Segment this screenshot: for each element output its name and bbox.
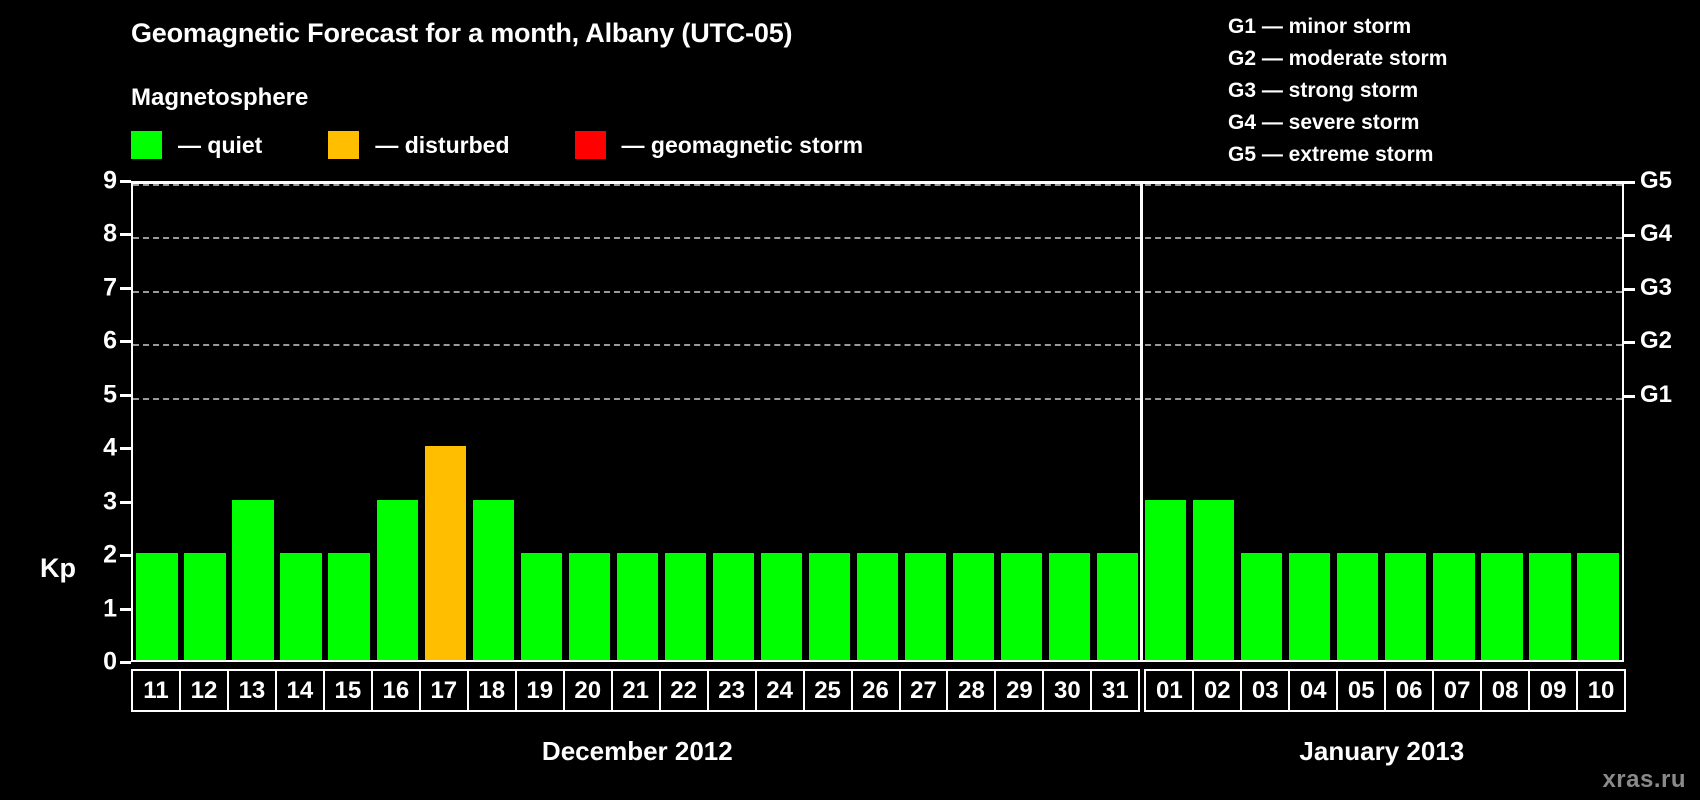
day-label-27[interactable]: 27 <box>899 669 949 712</box>
day-label-12[interactable]: 12 <box>179 669 229 712</box>
bar-cell[interactable] <box>229 184 277 660</box>
legend-swatch-disturbed <box>328 131 359 159</box>
kp-tick-mark-6 <box>120 340 131 343</box>
day-label-04[interactable]: 04 <box>1288 669 1338 712</box>
day-label-05[interactable]: 05 <box>1336 669 1386 712</box>
kp-tick-label-4: 4 <box>103 434 117 463</box>
page-title: Geomagnetic Forecast for a month, Albany… <box>131 18 792 49</box>
plot-inner <box>133 184 1622 660</box>
bar-cell[interactable] <box>373 184 421 660</box>
kp-tick-mark-8 <box>120 233 131 236</box>
bar-cell[interactable] <box>1238 184 1286 660</box>
bar-cell[interactable] <box>1142 184 1190 660</box>
kp-tick-label-2: 2 <box>103 541 117 570</box>
bar-day-01[interactable] <box>1145 500 1186 660</box>
geomagnetic-forecast-chart: Geomagnetic Forecast for a month, Albany… <box>0 0 1700 800</box>
day-label-17[interactable]: 17 <box>419 669 469 712</box>
g-tick-mark-g5 <box>1624 181 1635 184</box>
day-label-25[interactable]: 25 <box>803 669 853 712</box>
bar-cell[interactable] <box>1094 184 1142 660</box>
bar-cell[interactable] <box>1286 184 1334 660</box>
legend-swatch-quiet <box>131 131 162 159</box>
kp-tick-mark-2 <box>120 554 131 557</box>
bar-day-17[interactable] <box>425 446 466 660</box>
bar-day-09[interactable] <box>1529 553 1570 660</box>
bar-day-14[interactable] <box>280 553 321 660</box>
day-label-15[interactable]: 15 <box>323 669 373 712</box>
kp-tick-mark-7 <box>120 287 131 290</box>
bar-cell[interactable] <box>277 184 325 660</box>
g-tick-label-g4: G4 <box>1640 220 1672 248</box>
day-label-strip: 1112131415161718192021222324252627282930… <box>131 669 1624 712</box>
storm-key-line-g4: G4 — severe storm <box>1228 107 1447 139</box>
day-label-23[interactable]: 23 <box>707 669 757 712</box>
legend-label-disturbed: — disturbed <box>375 132 509 159</box>
month-label-december: December 2012 <box>542 736 733 767</box>
kp-tick-label-7: 7 <box>103 273 117 302</box>
day-label-11[interactable]: 11 <box>131 669 181 712</box>
bar-day-08[interactable] <box>1481 553 1522 660</box>
bar-cell[interactable] <box>998 184 1046 660</box>
day-label-31[interactable]: 31 <box>1090 669 1140 712</box>
storm-key-line-g3: G3 — strong storm <box>1228 75 1447 107</box>
bar-cell[interactable] <box>1190 184 1238 660</box>
kp-tick-label-6: 6 <box>103 327 117 356</box>
bar-day-24[interactable] <box>761 553 802 660</box>
legend-item-quiet: — quiet <box>131 131 262 159</box>
kp-tick-mark-0 <box>120 661 131 664</box>
bar-day-20[interactable] <box>569 553 610 660</box>
bar-cell[interactable] <box>181 184 229 660</box>
bar-day-22[interactable] <box>665 553 706 660</box>
g-tick-label-g1: G1 <box>1640 381 1672 409</box>
day-label-09[interactable]: 09 <box>1528 669 1578 712</box>
bar-cell[interactable] <box>661 184 709 660</box>
month-label-january: January 2013 <box>1299 736 1464 767</box>
bar-cell[interactable] <box>565 184 613 660</box>
day-label-19[interactable]: 19 <box>515 669 565 712</box>
kp-tick-mark-3 <box>120 501 131 504</box>
storm-scale-key: G1 — minor storm G2 — moderate storm G3 … <box>1228 11 1447 171</box>
g-tick-label-g5: G5 <box>1640 167 1672 195</box>
bar-day-31[interactable] <box>1097 553 1138 660</box>
bar-cell[interactable] <box>517 184 565 660</box>
kp-tick-label-8: 8 <box>103 220 117 249</box>
kp-tick-mark-4 <box>120 447 131 450</box>
day-label-16[interactable]: 16 <box>371 669 421 712</box>
storm-key-line-g1: G1 — minor storm <box>1228 11 1447 43</box>
kp-tick-label-1: 1 <box>103 594 117 623</box>
bar-cell[interactable] <box>950 184 998 660</box>
bar-day-13[interactable] <box>232 500 273 660</box>
bar-cell[interactable] <box>133 184 181 660</box>
magnetosphere-legend: — quiet — disturbed — geomagnetic storm <box>131 130 863 160</box>
kp-tick-mark-1 <box>120 608 131 611</box>
day-label-22[interactable]: 22 <box>659 669 709 712</box>
bar-day-06[interactable] <box>1385 553 1426 660</box>
day-label-02[interactable]: 02 <box>1192 669 1242 712</box>
g-tick-mark-g2 <box>1624 341 1635 344</box>
bar-cell[interactable] <box>1382 184 1430 660</box>
bar-cell[interactable] <box>469 184 517 660</box>
day-label-03[interactable]: 03 <box>1240 669 1290 712</box>
bar-day-30[interactable] <box>1049 553 1090 660</box>
bar-cell[interactable] <box>1574 184 1622 660</box>
day-label-06[interactable]: 06 <box>1384 669 1434 712</box>
kp-tick-label-5: 5 <box>103 380 117 409</box>
g-tick-label-g2: G2 <box>1640 327 1672 355</box>
day-label-13[interactable]: 13 <box>227 669 277 712</box>
bar-day-27[interactable] <box>905 553 946 660</box>
bar-day-26[interactable] <box>857 553 898 660</box>
bar-day-16[interactable] <box>377 500 418 660</box>
bar-cell[interactable] <box>1334 184 1382 660</box>
bar-day-21[interactable] <box>617 553 658 660</box>
bar-cell[interactable] <box>325 184 373 660</box>
day-label-01[interactable]: 01 <box>1144 669 1194 712</box>
g-tick-mark-g4 <box>1624 234 1635 237</box>
bar-cell[interactable] <box>709 184 757 660</box>
g-tick-mark-g1 <box>1624 395 1635 398</box>
bar-cell[interactable] <box>853 184 901 660</box>
day-label-26[interactable]: 26 <box>851 669 901 712</box>
bar-cell[interactable] <box>805 184 853 660</box>
day-label-28[interactable]: 28 <box>946 669 996 712</box>
bar-day-11[interactable] <box>136 553 177 660</box>
bar-cell[interactable] <box>757 184 805 660</box>
storm-key-line-g5: G5 — extreme storm <box>1228 139 1447 171</box>
day-label-07[interactable]: 07 <box>1432 669 1482 712</box>
g-tick-mark-g3 <box>1624 288 1635 291</box>
bar-cell[interactable] <box>1430 184 1478 660</box>
bar-cell[interactable] <box>1046 184 1094 660</box>
legend-label-storm: — geomagnetic storm <box>622 132 864 159</box>
bar-day-12[interactable] <box>184 553 225 660</box>
plot-area <box>131 181 1624 662</box>
kp-axis-label: Kp <box>40 553 76 584</box>
month-divider <box>1140 184 1143 660</box>
g-tick-label-g3: G3 <box>1640 274 1672 302</box>
bar-day-10[interactable] <box>1577 553 1618 660</box>
legend-group-label: Magnetosphere <box>131 84 308 112</box>
bar-day-02[interactable] <box>1193 500 1234 660</box>
bar-day-25[interactable] <box>809 553 850 660</box>
day-label-08[interactable]: 08 <box>1480 669 1530 712</box>
kp-tick-label-3: 3 <box>103 487 117 516</box>
legend-item-storm: — geomagnetic storm <box>575 131 864 159</box>
kp-tick-mark-9 <box>120 180 131 183</box>
storm-key-line-g2: G2 — moderate storm <box>1228 43 1447 75</box>
bar-cell[interactable] <box>421 184 469 660</box>
bar-day-23[interactable] <box>713 553 754 660</box>
kp-tick-mark-5 <box>120 394 131 397</box>
legend-swatch-storm <box>575 131 606 159</box>
day-label-21[interactable]: 21 <box>611 669 661 712</box>
day-label-10[interactable]: 10 <box>1576 669 1626 712</box>
bar-series <box>133 184 1622 660</box>
bar-cell[interactable] <box>1478 184 1526 660</box>
bar-day-18[interactable] <box>473 500 514 660</box>
bar-day-28[interactable] <box>953 553 994 660</box>
bar-day-07[interactable] <box>1433 553 1474 660</box>
day-label-24[interactable]: 24 <box>755 669 805 712</box>
bar-day-29[interactable] <box>1001 553 1042 660</box>
bar-day-19[interactable] <box>521 553 562 660</box>
bar-day-03[interactable] <box>1241 553 1282 660</box>
watermark: xras.ru <box>1602 766 1686 794</box>
bar-day-05[interactable] <box>1337 553 1378 660</box>
bar-cell[interactable] <box>613 184 661 660</box>
legend-label-quiet: — quiet <box>178 132 262 159</box>
day-label-20[interactable]: 20 <box>563 669 613 712</box>
bar-day-04[interactable] <box>1289 553 1330 660</box>
bar-cell[interactable] <box>1526 184 1574 660</box>
bar-day-15[interactable] <box>328 553 369 660</box>
day-label-14[interactable]: 14 <box>275 669 325 712</box>
legend-item-disturbed: — disturbed <box>328 131 509 159</box>
day-label-18[interactable]: 18 <box>467 669 517 712</box>
day-label-29[interactable]: 29 <box>994 669 1044 712</box>
bar-cell[interactable] <box>902 184 950 660</box>
kp-tick-label-9: 9 <box>103 167 117 196</box>
day-label-30[interactable]: 30 <box>1042 669 1092 712</box>
kp-tick-label-0: 0 <box>103 648 117 677</box>
kp-axis: Kp 0123456789 <box>0 181 131 662</box>
g-scale-axis: G1G2G3G4G5 <box>1624 181 1700 662</box>
